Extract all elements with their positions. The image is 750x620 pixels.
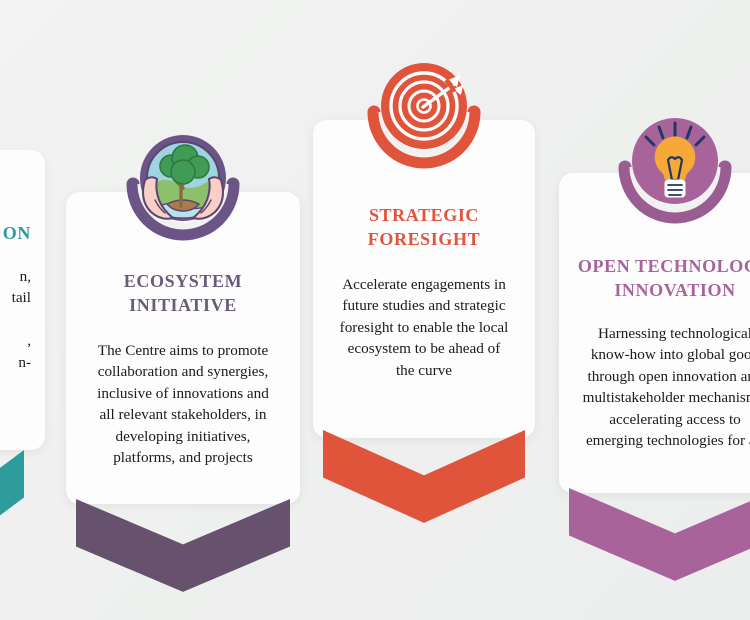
card-title: ECOSYSTEM INITIATIVE (82, 270, 284, 318)
card-ecosystem[interactable]: ECOSYSTEM INITIATIVE The Centre aims to … (66, 192, 300, 504)
card-chevron-arrow (323, 430, 525, 538)
card-partial-left[interactable]: ON n, tail , n- (0, 150, 45, 450)
card-chevron-arrow (569, 488, 750, 596)
infographic-canvas: ON n, tail , n- ECOSYSTEM INITIATIVE The… (0, 0, 750, 620)
card-strategic-foresight[interactable]: STRATEGIC FORESIGHT Accelerate engagemen… (313, 120, 535, 438)
hands-cradling-tree-icon (119, 122, 247, 250)
card-body-text: Accelerate engagements in future studies… (327, 274, 521, 382)
card-surface: ON n, tail , n- (0, 150, 45, 450)
card-title: OPEN TECHNOLOGY INNOVATION (569, 255, 750, 303)
card-chevron-arrow (0, 450, 24, 558)
card-body-text: Harnessing technological know-how into g… (569, 323, 750, 452)
card-title: STRATEGIC FORESIGHT (327, 204, 521, 252)
card-title: ON (0, 222, 31, 246)
card-chevron-arrow (76, 499, 290, 607)
card-open-technology-innovation[interactable]: OPEN TECHNOLOGY INNOVATION Harnessing te… (559, 173, 750, 493)
card-body-text: The Centre aims to promote collaboration… (82, 340, 284, 469)
card-body-text: n, tail , n- (0, 266, 31, 374)
lightbulb-idea-icon (611, 105, 739, 233)
target-dartboard-arrow-icon (360, 50, 488, 178)
